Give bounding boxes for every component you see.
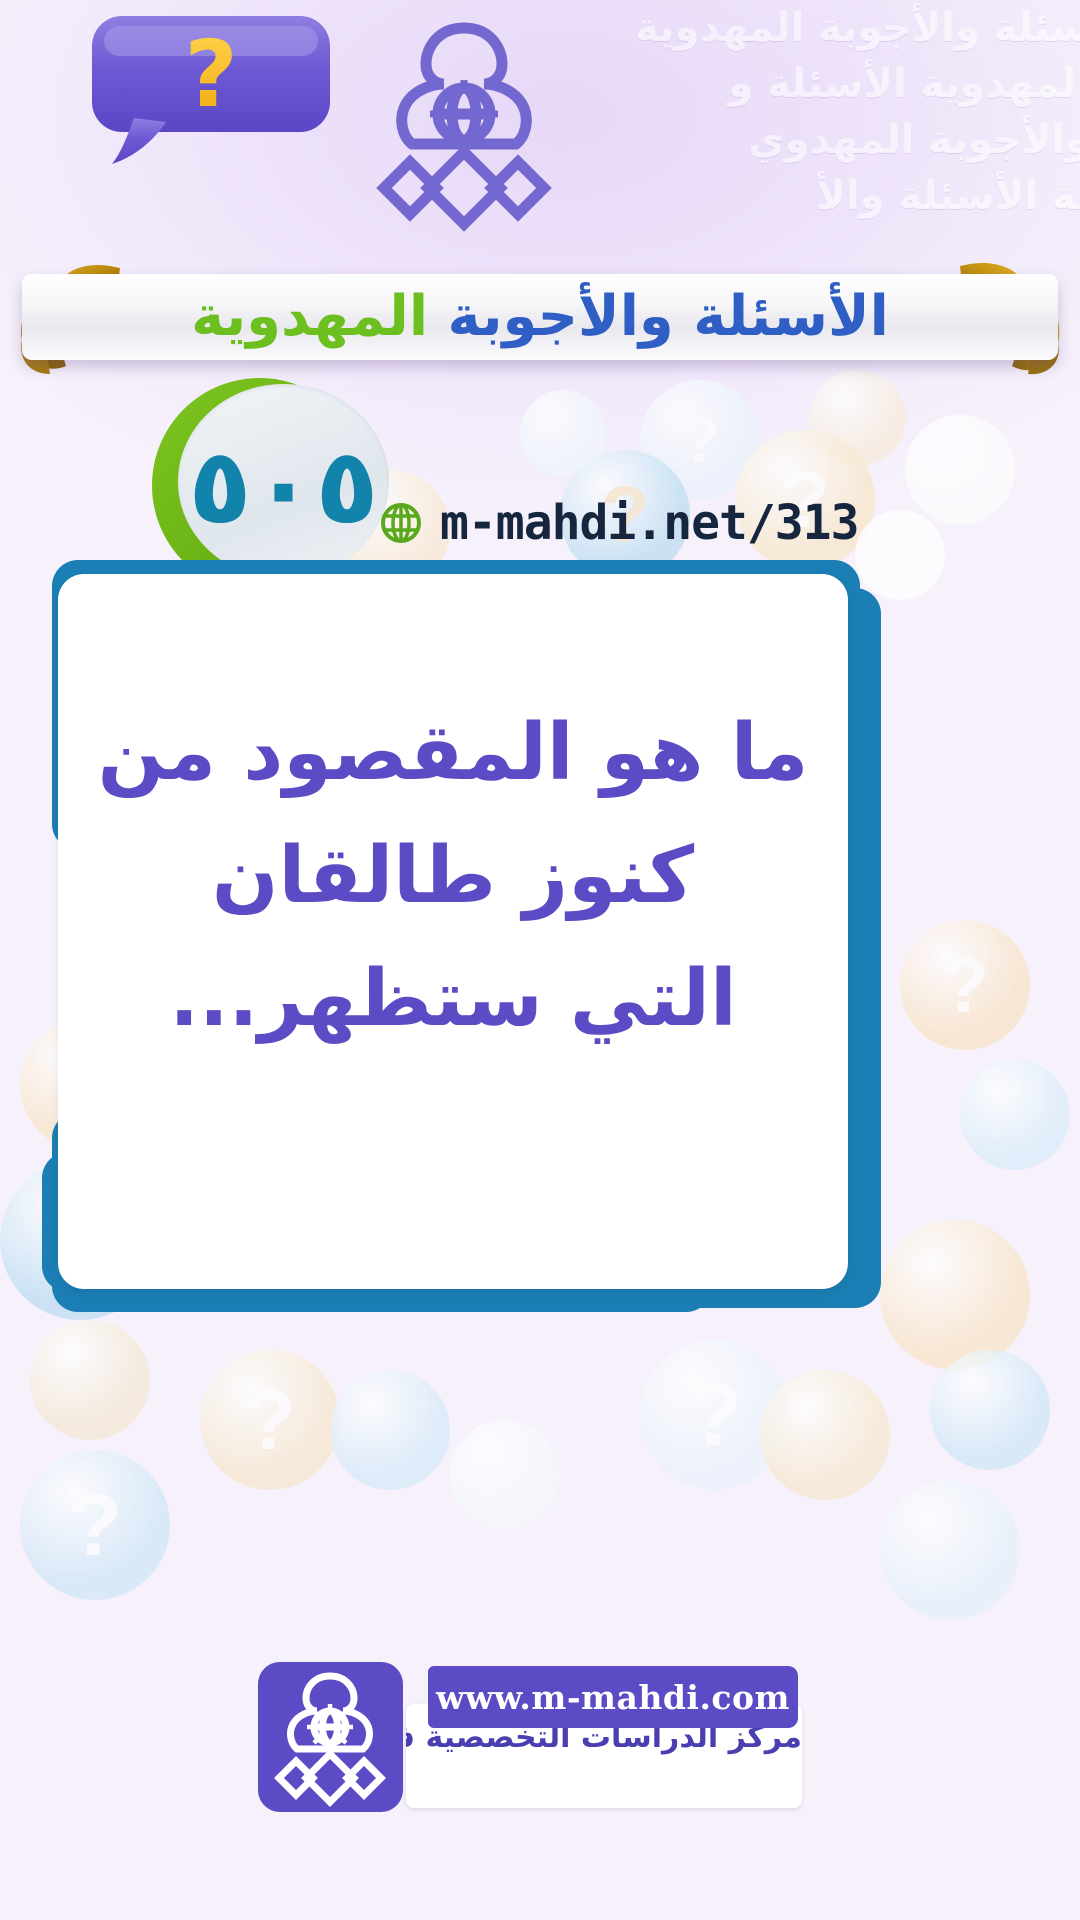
decor-bubble xyxy=(760,1370,890,1500)
footer-url-text: www.m-mahdi.com xyxy=(436,1678,790,1717)
decor-bubble xyxy=(905,415,1015,525)
question-line: ما هو المقصود من xyxy=(92,692,814,815)
source-link[interactable]: m-mahdi.net/313 xyxy=(380,495,858,551)
decor-bubble xyxy=(30,1320,150,1440)
question-card: ما هو المقصود من كنوز طالقان التي ستظهر.… xyxy=(58,574,848,1289)
mahdi-globe-emblem-icon xyxy=(352,20,577,235)
decor-bubble xyxy=(450,1420,560,1530)
question-line: كنوز طالقان xyxy=(92,815,814,938)
decor-bubble xyxy=(330,1370,450,1490)
decor-bubble xyxy=(930,1350,1050,1470)
decor-question-mark: ? xyxy=(688,1364,742,1466)
banner-title: الأسئلة والأجوبة المهدوية xyxy=(22,274,1058,360)
badge-number: ٥٠٥ xyxy=(180,388,387,583)
question-line: التي ستظهر... xyxy=(92,938,814,1061)
decor-question-mark: ? xyxy=(68,1474,122,1576)
question-mark-speech-bubble-icon: ? xyxy=(90,14,332,164)
decor-question-mark: ? xyxy=(680,403,719,477)
source-url-text: m-mahdi.net/313 xyxy=(440,495,858,551)
footer: مركز الدراسات التخصصية في الإمام المهدي … xyxy=(258,1648,798,1828)
decor-bubble: ? xyxy=(20,1450,170,1600)
banner: الأسئلة والأجوبة المهدوية xyxy=(0,248,1080,378)
banner-title-primary: الأسئلة والأجوبة xyxy=(448,284,889,349)
banner-title-secondary: المهدوية xyxy=(191,284,428,349)
decor-bubble xyxy=(880,1480,1020,1620)
svg-text:?: ? xyxy=(184,21,237,128)
footer-url-bar[interactable]: www.m-mahdi.com xyxy=(428,1666,798,1728)
footer-website-banner[interactable]: مركز الدراسات التخصصية في الإمام المهدي … xyxy=(378,1658,798,1808)
question-card-zone: ما هو المقصود من كنوز طالقان التي ستظهر.… xyxy=(30,552,1050,1312)
banner-plate: الأسئلة والأجوبة المهدوية xyxy=(22,274,1058,360)
decor-bubble: ? xyxy=(200,1350,340,1490)
question-number-badge: ٥٠٥ xyxy=(152,378,367,593)
question-text: ما هو المقصود من كنوز طالقان التي ستظهر.… xyxy=(92,692,814,1062)
decor-question-mark: ? xyxy=(244,1372,295,1469)
